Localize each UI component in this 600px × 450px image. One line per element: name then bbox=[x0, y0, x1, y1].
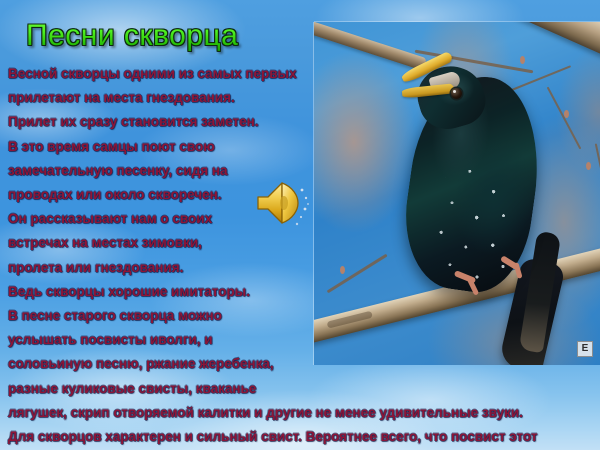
body-text-line: разные куликовые свисты, кваканье bbox=[8, 381, 256, 397]
body-text-line: Ведь скворцы хорошие имитаторы. bbox=[8, 284, 250, 300]
body-text-line: В песне старого скворца можно bbox=[8, 308, 222, 324]
body-text-line: прилетают на места гнездования. bbox=[8, 90, 235, 106]
page-title: Песни скворца bbox=[26, 18, 316, 54]
body-text-line: Прилет их сразу становится заметен. bbox=[8, 114, 259, 130]
photo-watermark: E bbox=[577, 341, 593, 357]
body-text-line: пролета или гнездования. bbox=[8, 260, 183, 276]
body-text-line: услышать посвисты иволги, и bbox=[8, 332, 213, 348]
body-text-line: Для скворцов характерен и сильный свист.… bbox=[8, 429, 537, 445]
body-text-line: проводах или около скворечен. bbox=[8, 187, 222, 203]
body-text-line: лягушек, скрип отворяемой калитки и друг… bbox=[8, 405, 523, 421]
bud bbox=[340, 266, 345, 274]
starling-photo: E bbox=[314, 22, 600, 365]
bud bbox=[586, 162, 591, 170]
body-text-line: Весной скворцы одними из самых первых bbox=[8, 66, 297, 82]
speaker-sound-icon[interactable] bbox=[252, 176, 310, 230]
body-text-line: встречах на местах зимовки, bbox=[8, 235, 202, 251]
body-text-line: соловьиную песню, ржание жеребенка, bbox=[8, 356, 274, 372]
body-text-line: Он рассказывают нам о своих bbox=[8, 211, 212, 227]
bud bbox=[520, 56, 525, 64]
bird-eye bbox=[451, 88, 462, 99]
body-text-line: замечательную песенку, сидя на bbox=[8, 163, 228, 179]
presentation-slide: Песни скворца Весной скворцы одними из с… bbox=[0, 0, 600, 450]
bud bbox=[564, 110, 569, 118]
body-text-line: В это время самцы поют свою bbox=[8, 139, 215, 155]
